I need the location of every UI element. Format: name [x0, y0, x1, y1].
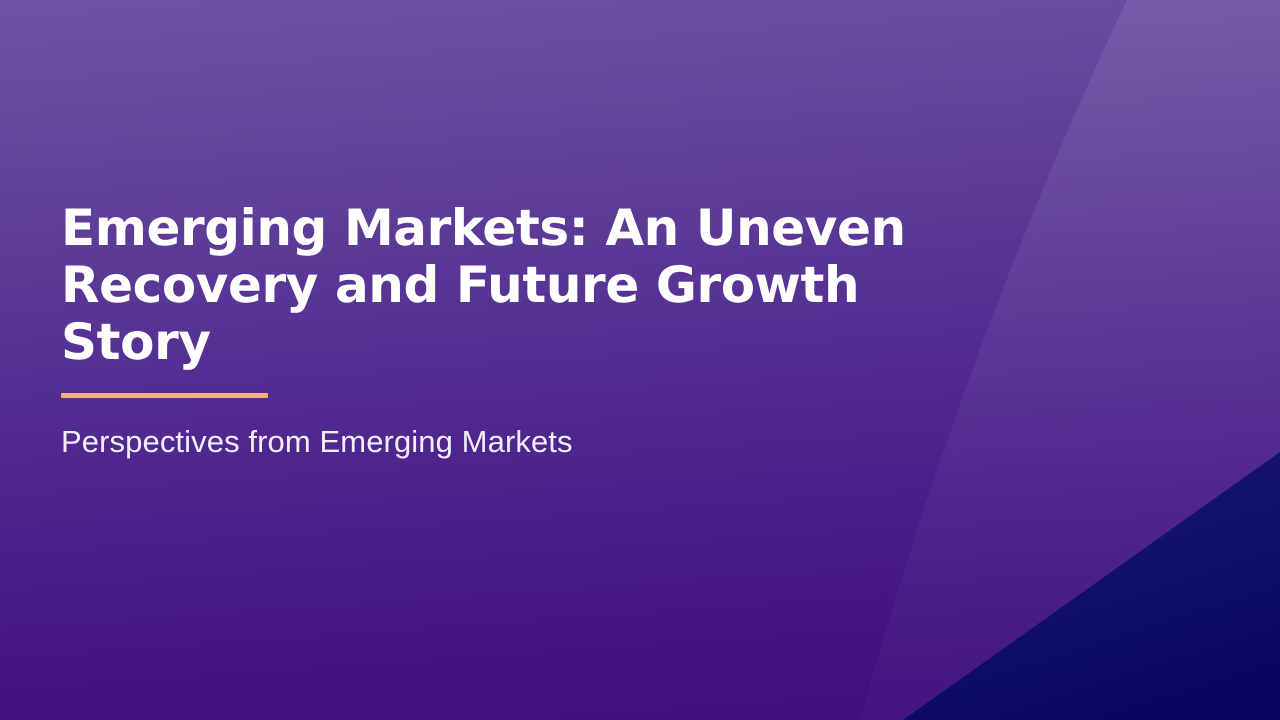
slide-content: Emerging Markets: An Uneven Recovery and… — [61, 200, 1021, 462]
accent-rule-divider — [61, 393, 268, 398]
title-slide: Emerging Markets: An Uneven Recovery and… — [0, 0, 1280, 720]
page-title: Emerging Markets: An Uneven Recovery and… — [61, 200, 1021, 371]
slide-subtitle: Perspectives from Emerging Markets — [61, 422, 1021, 462]
